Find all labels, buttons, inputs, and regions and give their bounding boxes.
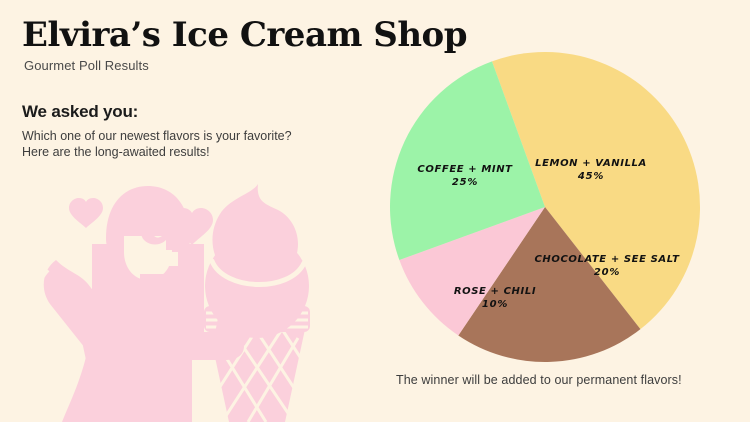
pie-chart: Lemon + Vanilla 45% Chocolate + See Salt… bbox=[385, 42, 715, 372]
question-heading: We asked you: bbox=[22, 102, 382, 122]
illustration-woman-with-ice-cream bbox=[36, 178, 376, 422]
ice-cream-cone bbox=[204, 184, 310, 422]
woman-neck bbox=[140, 274, 166, 288]
question-line-2: Here are the long-awaited results! bbox=[22, 144, 382, 160]
chart-caption: The winner will be added to our permanen… bbox=[396, 373, 682, 387]
question-block: We asked you: Which one of our newest fl… bbox=[22, 102, 382, 160]
question-line-1: Which one of our newest flavors is your … bbox=[22, 128, 382, 144]
ice-cream-swirl-top bbox=[212, 184, 298, 284]
poster-canvas: Elvira’s Ice Cream Shop Gourmet Poll Res… bbox=[0, 0, 750, 422]
pie-slices bbox=[390, 52, 700, 362]
heart-icon-small-left bbox=[69, 198, 103, 228]
woman-hand bbox=[214, 315, 242, 338]
